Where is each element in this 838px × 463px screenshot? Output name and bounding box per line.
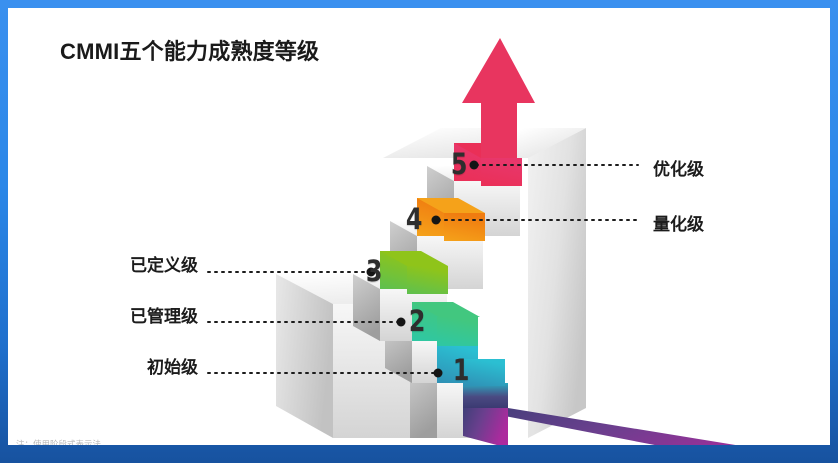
level-label-quantitatively-managed: 量化级 (653, 210, 704, 235)
ribbon-level-2-riser (437, 317, 478, 346)
ribbon-level-5-riser (481, 158, 522, 186)
ribbon-level-3-riser (407, 266, 448, 294)
ribbon-base-riser-lower (463, 408, 508, 445)
up-arrow-shaft (481, 104, 517, 158)
leader-dot-4 (432, 216, 441, 225)
level-label-managed: 已管理级 (48, 302, 198, 327)
level-label-optimizing: 优化级 (653, 155, 704, 180)
level-label-defined: 已定义级 (48, 251, 198, 276)
footer-note: 注：使用阶段式表示法。 (16, 438, 110, 445)
ribbon-base-riser (463, 383, 508, 408)
leader-dot-5 (470, 161, 479, 170)
cmmi-staircase-diagram: 5 4 3 2 1 优化级 量化级 已定义级 已管理级 初始级 (8, 8, 830, 445)
level-number-3: 3 (366, 254, 383, 288)
ribbon-level-4-riser (444, 213, 485, 241)
leader-dot-2 (397, 318, 406, 327)
slide-canvas: CMMI五个能力成熟度等级 (8, 8, 830, 445)
leader-dot-1 (434, 369, 443, 378)
level-label-initial: 初始级 (48, 353, 198, 378)
level-number-1: 1 (453, 353, 470, 387)
level-number-5: 5 (451, 147, 468, 181)
slide-frame: CMMI五个能力成熟度等级 (0, 0, 838, 463)
level-number-4: 4 (406, 202, 423, 236)
block-right-face (528, 128, 586, 438)
level-number-2: 2 (409, 304, 426, 338)
